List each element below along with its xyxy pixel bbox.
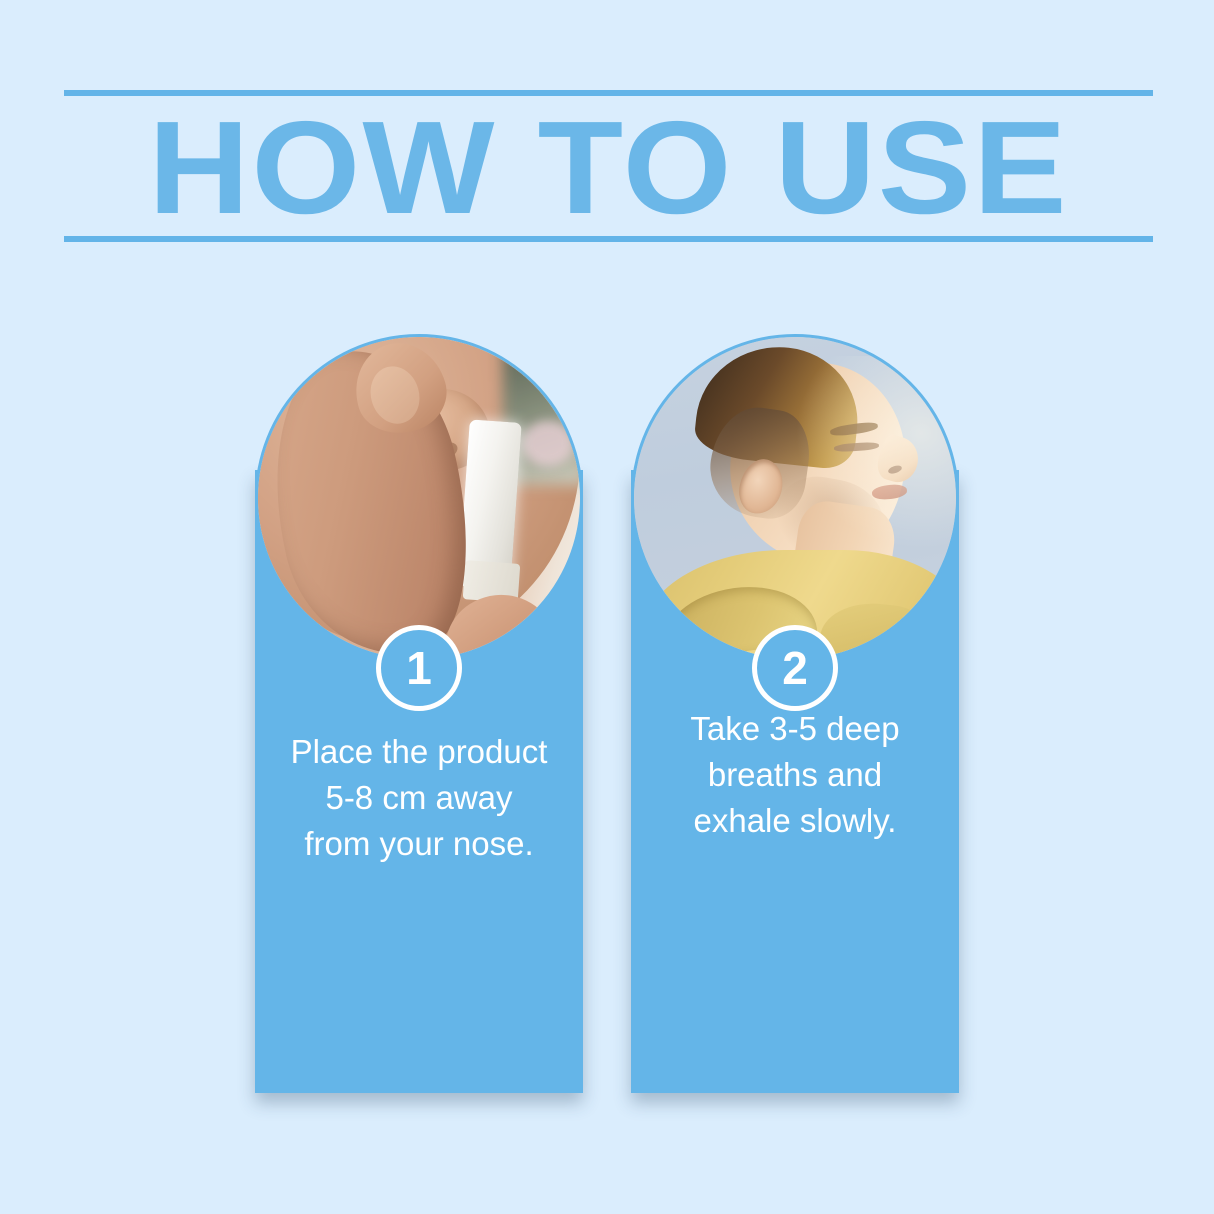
page-header: HOW TO USE [64,90,1153,242]
step-2-photo [631,334,959,662]
step-2-caption: Take 3-5 deep breaths and exhale slowly. [631,706,959,844]
step-1-caption: Place the product 5-8 cm away from your … [255,729,583,867]
step-1-photo [255,334,583,662]
steps-container: 1 Place the product 5-8 cm away from you… [255,334,959,1093]
page-title: HOW TO USE [31,96,1185,236]
step-2-number: 2 [782,645,808,691]
step-card-1[interactable]: 1 Place the product 5-8 cm away from you… [255,334,583,1093]
step-1-number-badge: 1 [376,625,462,711]
deep-breathing-illustration [634,337,956,659]
step-1-number: 1 [406,645,432,691]
step-2-number-badge: 2 [752,625,838,711]
inhaler-at-nose-illustration [258,337,580,659]
step-card-2[interactable]: 2 Take 3-5 deep breaths and exhale slowl… [631,334,959,1093]
